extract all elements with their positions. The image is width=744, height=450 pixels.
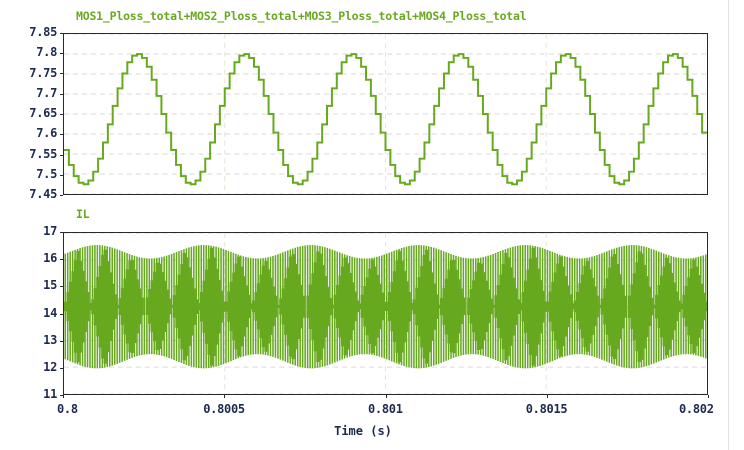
x-tick-mark [708, 395, 709, 398]
top-y-tick-mark [60, 94, 63, 95]
top-y-tick-label: 7.6 [36, 126, 57, 140]
top-plot-title: MOS1_Ploss_total+MOS2_Ploss_total+MOS3_P… [76, 9, 526, 23]
top-y-tick-label: 7.65 [29, 106, 57, 120]
panel-divider [728, 0, 729, 450]
bottom-plot-area [63, 232, 708, 395]
x-tick-label: 0.801 [368, 402, 403, 416]
bottom-y-tick-label: 12 [43, 360, 57, 374]
x-tick-label: 0.8 [57, 402, 78, 416]
top-y-tick-mark [60, 155, 63, 156]
figure-canvas: MOS1_Ploss_total+MOS2_Ploss_total+MOS3_P… [0, 0, 744, 450]
bottom-y-tick-mark [60, 314, 63, 315]
top-y-tick-mark [60, 33, 63, 34]
top-y-tick-mark [60, 195, 63, 196]
bottom-y-tick-mark [60, 341, 63, 342]
x-axis-label: Time (s) [0, 424, 744, 438]
bottom-y-tick-label: 14 [43, 306, 57, 320]
x-tick-mark [224, 395, 225, 398]
top-y-tick-label: 7.75 [29, 66, 57, 80]
x-tick-mark [386, 395, 387, 398]
top-y-tick-label: 7.55 [29, 147, 57, 161]
top-y-tick-mark [60, 175, 63, 176]
x-tick-mark [547, 395, 548, 398]
x-tick-label: 0.802 [679, 402, 714, 416]
top-y-tick-label: 7.7 [36, 86, 57, 100]
top-y-tick-label: 7.5 [36, 167, 57, 181]
bottom-y-tick-mark [60, 368, 63, 369]
bottom-plot-title: IL [76, 207, 89, 221]
x-tick-label: 0.8005 [203, 402, 245, 416]
top-y-tick-label: 7.85 [29, 25, 57, 39]
bottom-y-tick-mark [60, 232, 63, 233]
top-plot-svg [64, 34, 707, 194]
top-y-tick-mark [60, 114, 63, 115]
x-tick-mark [63, 395, 64, 398]
bottom-y-tick-mark [60, 286, 63, 287]
bottom-y-tick-label: 17 [43, 224, 57, 238]
bottom-y-tick-label: 16 [43, 251, 57, 265]
bottom-plot-svg [64, 233, 707, 394]
bottom-y-tick-label: 11 [43, 387, 57, 401]
x-axis-label-text: Time (s) [334, 424, 392, 438]
x-tick-label: 0.8015 [526, 402, 568, 416]
top-y-tick-label: 7.45 [29, 187, 57, 201]
top-y-tick-mark [60, 134, 63, 135]
top-y-tick-mark [60, 53, 63, 54]
top-plot-area [63, 33, 708, 195]
top-y-tick-label: 7.8 [36, 45, 57, 59]
bottom-y-tick-label: 15 [43, 278, 57, 292]
top-y-tick-mark [60, 73, 63, 74]
bottom-y-tick-label: 13 [43, 333, 57, 347]
bottom-y-tick-mark [60, 259, 63, 260]
